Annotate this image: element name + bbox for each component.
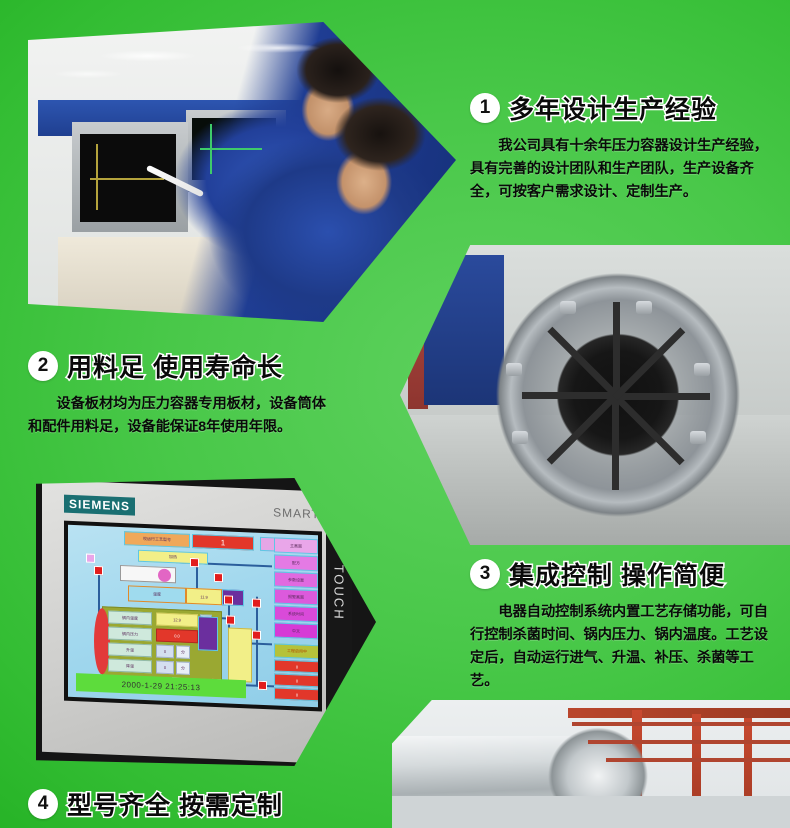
autoclave-bolt [560,301,576,314]
feature-block-2: 2 用料足 使用寿命长 设备板材均为压力容器专用板材，设备筒体和配件用料足，设备… [28,348,328,439]
autoclave-bolt [506,363,522,376]
hmi-valve-node[interactable] [224,595,233,604]
autoclave-bolt [512,431,528,444]
hmi-valve-node[interactable] [214,573,223,582]
photo-autoclave [400,245,790,545]
promo-page: SIEMENS SMART LI 现运行工艺型号 1 手动操作 加热 [0,0,790,828]
hmi-touch-label: TOUCH [332,564,347,635]
feature-4-heading: 型号齐全 按需定制 [67,786,283,822]
feature-3-heading: 集成控制 操作简便 [509,556,725,592]
hmi-alarm-header: 工程启用中 [274,643,320,659]
feature-4-number-badge: 4 [28,789,58,819]
feature-2-number-badge: 2 [28,351,58,381]
hmi-valve-node[interactable] [258,681,267,690]
feature-block-1: 1 多年设计生产经验 我公司具有十余年压力容器设计生产经验，具有完善的设计团队和… [470,90,770,204]
hmi-alarm-value-0: 0 [274,659,320,673]
hmi-param-value-2[interactable]: 0 [156,644,174,658]
feature-3-body: 电器自动控制系统内置工艺存储功能，可自行控制杀菌时间、锅内压力、锅内温度。工艺设… [470,601,770,693]
hmi-valve-node[interactable] [226,615,235,624]
hmi-alarm-value-1: 0 [274,673,320,687]
feature-1-number-badge: 1 [470,93,500,123]
hmi-side-panel: TOUCH [326,530,352,717]
hmi-valve-node[interactable] [190,558,199,567]
hmi-temp-label: 温度 [128,585,186,603]
hmi-menu-4[interactable]: 系统时间 [274,605,318,622]
hmi-heat-exchanger [228,628,252,683]
hmi-model-label: SMART LI [273,505,336,522]
hmi-alarm-value-2: 0 [274,687,320,701]
photo-factory-vessel [392,700,790,828]
cad-screen-right [192,118,276,180]
photo-hmi-panel: SIEMENS SMART LI 现运行工艺型号 1 手动操作 加热 [36,478,376,766]
autoclave-spoke [613,302,620,398]
hmi-param-name-1: 锅内压力 [108,626,152,641]
hmi-param-value-1: 0.0 [156,628,198,643]
hmi-menu-3[interactable]: 报警画面 [274,588,318,605]
hmi-param-unit-3: 分 [176,661,190,675]
hmi-process-number: 1 [192,534,254,551]
autoclave-bolt [690,431,706,444]
feature-1-body: 我公司具有十余年压力容器设计生产经验，具有完善的设计团队和生产团队，生产设备齐全… [470,135,770,204]
roof-beam [572,722,790,726]
hmi-process-title: 现运行工艺型号 [124,531,190,548]
roof-beam [588,740,790,744]
photo-engineers [28,22,456,322]
hmi-param-value-3[interactable]: 0 [156,660,174,674]
hmi-rail [256,597,258,687]
hmi-menu-1[interactable]: 配方 [274,554,318,571]
feature-1-heading: 多年设计生产经验 [509,90,717,126]
autoclave-spoke [612,394,619,490]
hmi-mode-indicator [198,616,218,651]
hmi-temp-value: 11.9 [186,588,222,606]
feature-4-heading-row: 4 型号齐全 按需定制 [28,786,358,822]
hmi-param-name-0: 锅内温度 [108,610,152,625]
hmi-status-node [86,554,95,563]
hmi-menu-0[interactable]: 主画面 [274,537,318,554]
feature-3-heading-row: 3 集成控制 操作简便 [470,556,770,592]
hmi-param-name-3: 降温 [108,658,152,673]
hmi-rail [98,570,100,614]
autoclave-bolt [636,301,652,314]
hmi-screen[interactable]: 现运行工艺型号 1 手动操作 加热 温度 11.9 锅内温度 12.9 ℃ 锅内… [64,521,322,712]
feature-2-heading: 用料足 使用寿命长 [67,348,283,384]
feature-3-number-badge: 3 [470,559,500,589]
hmi-menu-5[interactable]: 中文 [274,622,318,639]
hmi-param-unit-2: 分 [176,645,190,659]
autoclave-spoke [522,392,618,399]
hmi-param-name-2: 升温 [108,642,152,657]
hmi-dial-indicator [158,569,171,583]
hmi-valve-node[interactable] [252,599,261,608]
hmi-valve-node[interactable] [94,566,103,575]
autoclave-bolt [694,363,710,376]
hmi-valve-node[interactable] [252,631,261,640]
roof-beam [606,758,790,762]
feature-block-4: 4 型号齐全 按需定制 [28,786,358,822]
hmi-panel-body: SIEMENS SMART LI 现运行工艺型号 1 手动操作 加热 [42,480,342,765]
feature-2-heading-row: 2 用料足 使用寿命长 [28,348,328,384]
siemens-logo: SIEMENS [64,495,135,516]
autoclave-spoke [614,393,710,400]
feature-2-body: 设备板材均为压力容器专用板材，设备筒体和配件用料足，设备能保证8年使用年限。 [28,393,328,439]
feature-block-3: 3 集成控制 操作简便 电器自动控制系统内置工艺存储功能，可自行控制杀菌时间、锅… [470,556,770,693]
hmi-menu-2[interactable]: 参数设置 [274,571,318,588]
feature-1-heading-row: 1 多年设计生产经验 [470,90,770,126]
hmi-param-value-0: 12.9 [156,612,198,627]
photo-vessel-image [392,700,790,828]
